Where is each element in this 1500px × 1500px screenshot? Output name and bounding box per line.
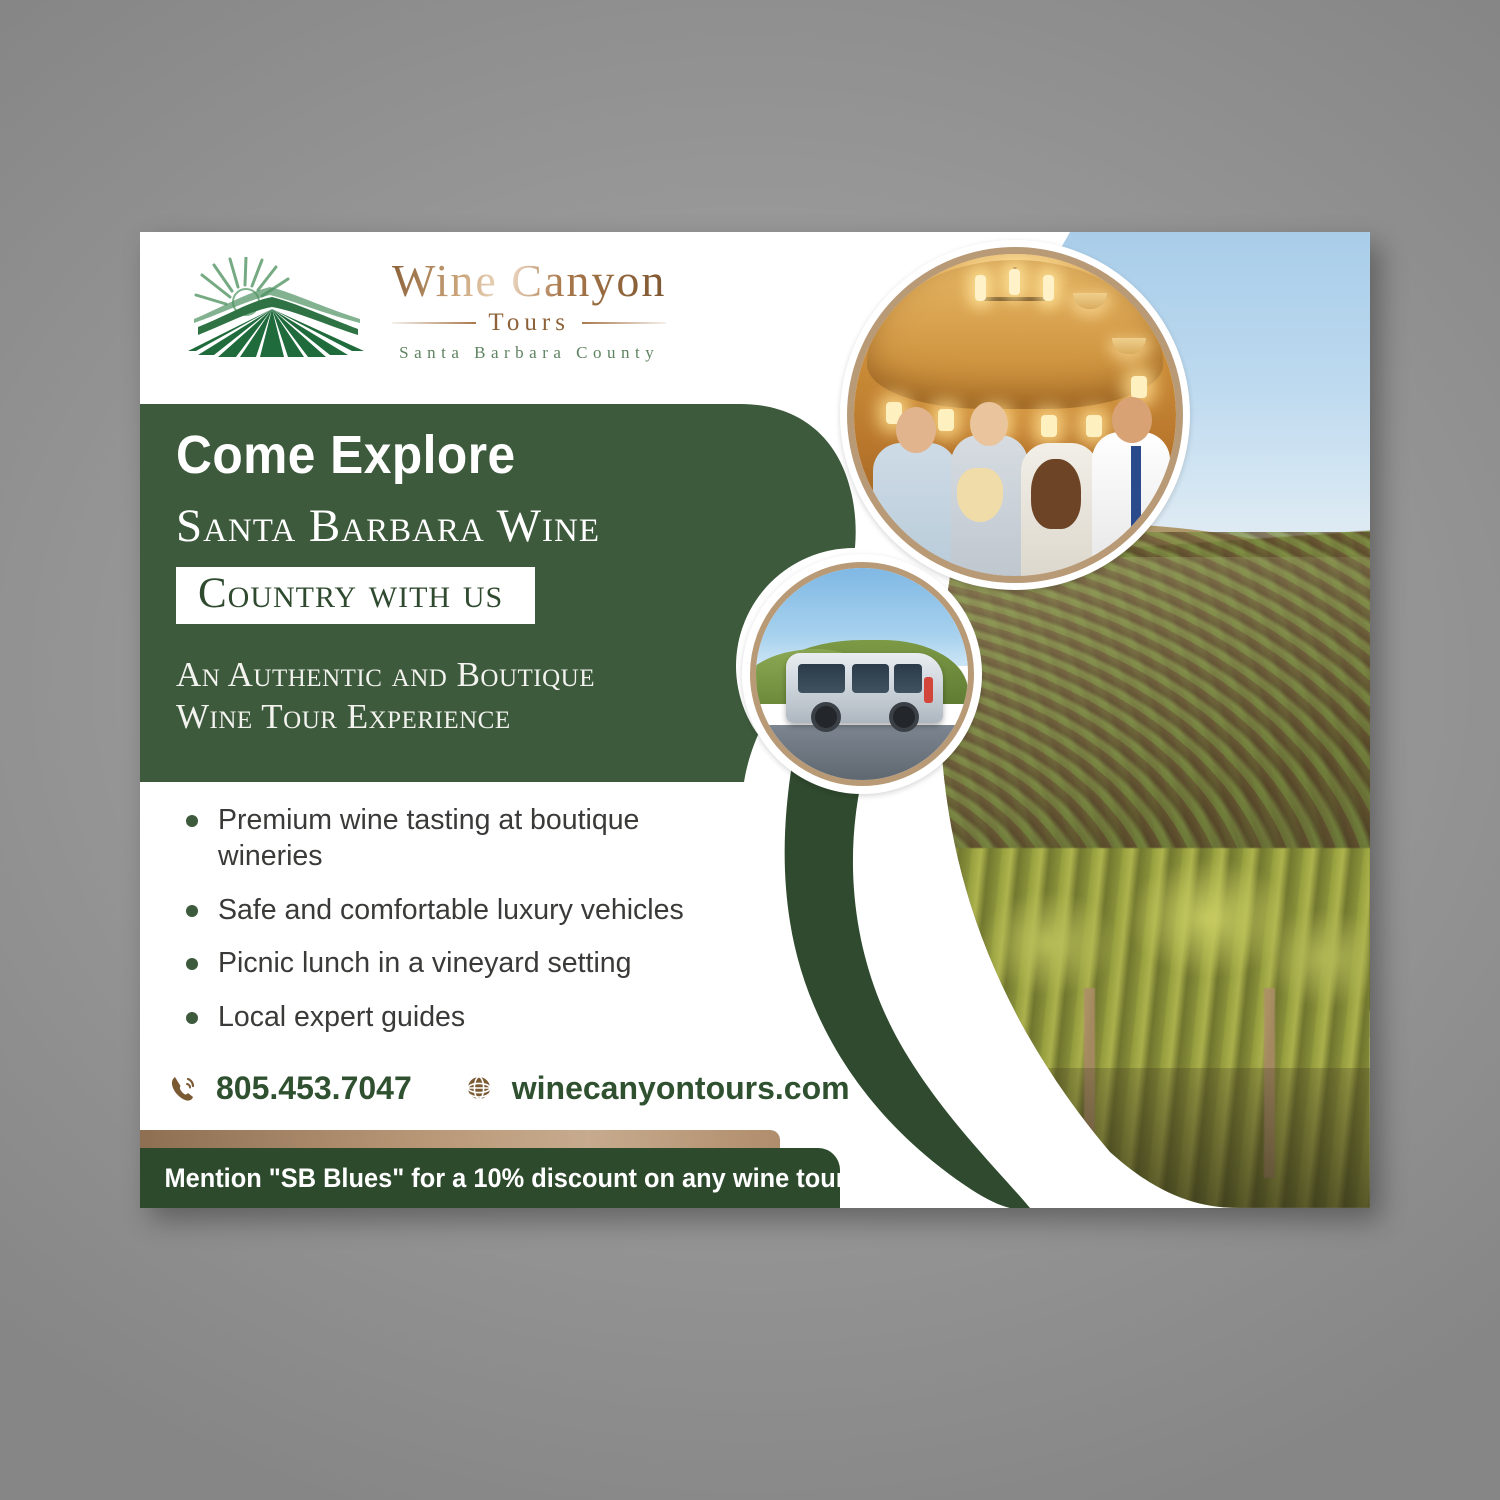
van-photo-frame (750, 562, 974, 786)
person-hair (957, 468, 1003, 522)
van-taillight (924, 677, 933, 703)
wordmark-rule-right (582, 322, 666, 324)
promo-banner: Mention "SB Blues" for a 10% discount on… (140, 1148, 840, 1208)
van-photo (742, 554, 982, 794)
globe-icon (462, 1072, 496, 1106)
van-window (894, 664, 922, 693)
chandelier-candle (1043, 275, 1054, 301)
chandelier-candle (975, 275, 986, 301)
van-window (852, 664, 890, 693)
list-item: Safe and comfortable luxury vehicles (170, 892, 730, 928)
headline-subtitle-line-1: An Authentic and Boutique (176, 654, 776, 697)
wordmark-rule-left (392, 322, 476, 324)
headline-subtitle: An Authentic and Boutique Wine Tour Expe… (176, 654, 776, 739)
cellar-photo-frame (847, 247, 1183, 583)
phone-number[interactable]: 805.453.7047 (216, 1070, 412, 1107)
person-head (896, 407, 936, 453)
tour-van (786, 653, 943, 723)
brand-wordmark: Wine Canyon Tours Santa Barbara County (392, 254, 666, 363)
advertisement-card: Wine Canyon Tours Santa Barbara County C… (140, 232, 1370, 1208)
person-head (1041, 409, 1079, 453)
chandelier-bar (977, 297, 1053, 301)
cellar-photo (840, 240, 1190, 590)
person (873, 443, 957, 576)
headline-line-3: Country with us (176, 567, 535, 623)
contact-row: 805.453.7047 winecanyontours.com (166, 1070, 850, 1107)
van-road (756, 725, 968, 780)
brand-logo: Wine Canyon Tours Santa Barbara County (188, 254, 666, 363)
promo-banner-text: Mention "SB Blues" for a 10% discount on… (140, 1163, 846, 1194)
headline-line-2: Santa Barbara Wine (176, 502, 776, 551)
van-window (798, 664, 845, 693)
brand-tours-row: Tours (392, 309, 666, 337)
sun-over-vineyard-hills-icon (188, 257, 366, 361)
person-head (1112, 397, 1152, 443)
brand-name: Wine Canyon (392, 254, 666, 307)
person-hair (1031, 459, 1081, 529)
banner-accent-strip (140, 1130, 780, 1150)
headline-block: Come Explore Santa Barbara Wine Country … (176, 428, 776, 739)
list-item: Premium wine tasting at boutique winerie… (170, 802, 730, 875)
van-wheel (889, 702, 919, 732)
list-item: Local expert guides (170, 999, 730, 1035)
tasting-group (854, 396, 1176, 576)
website-url[interactable]: winecanyontours.com (512, 1070, 850, 1107)
van-wheel (811, 702, 841, 732)
features-list: Premium wine tasting at boutique winerie… (170, 802, 730, 1052)
phone-icon (166, 1072, 200, 1106)
brand-region: Santa Barbara County (399, 343, 659, 363)
headline-subtitle-line-2: Wine Tour Experience (176, 696, 776, 739)
headline-line-1: Come Explore (176, 428, 728, 482)
brand-subname: Tours (488, 309, 570, 337)
list-item: Picnic lunch in a vineyard setting (170, 945, 730, 981)
jacket-stripe (1131, 446, 1141, 543)
person-head (970, 402, 1008, 446)
chandelier-icon (969, 267, 1061, 325)
chandelier-candle (1009, 269, 1020, 295)
